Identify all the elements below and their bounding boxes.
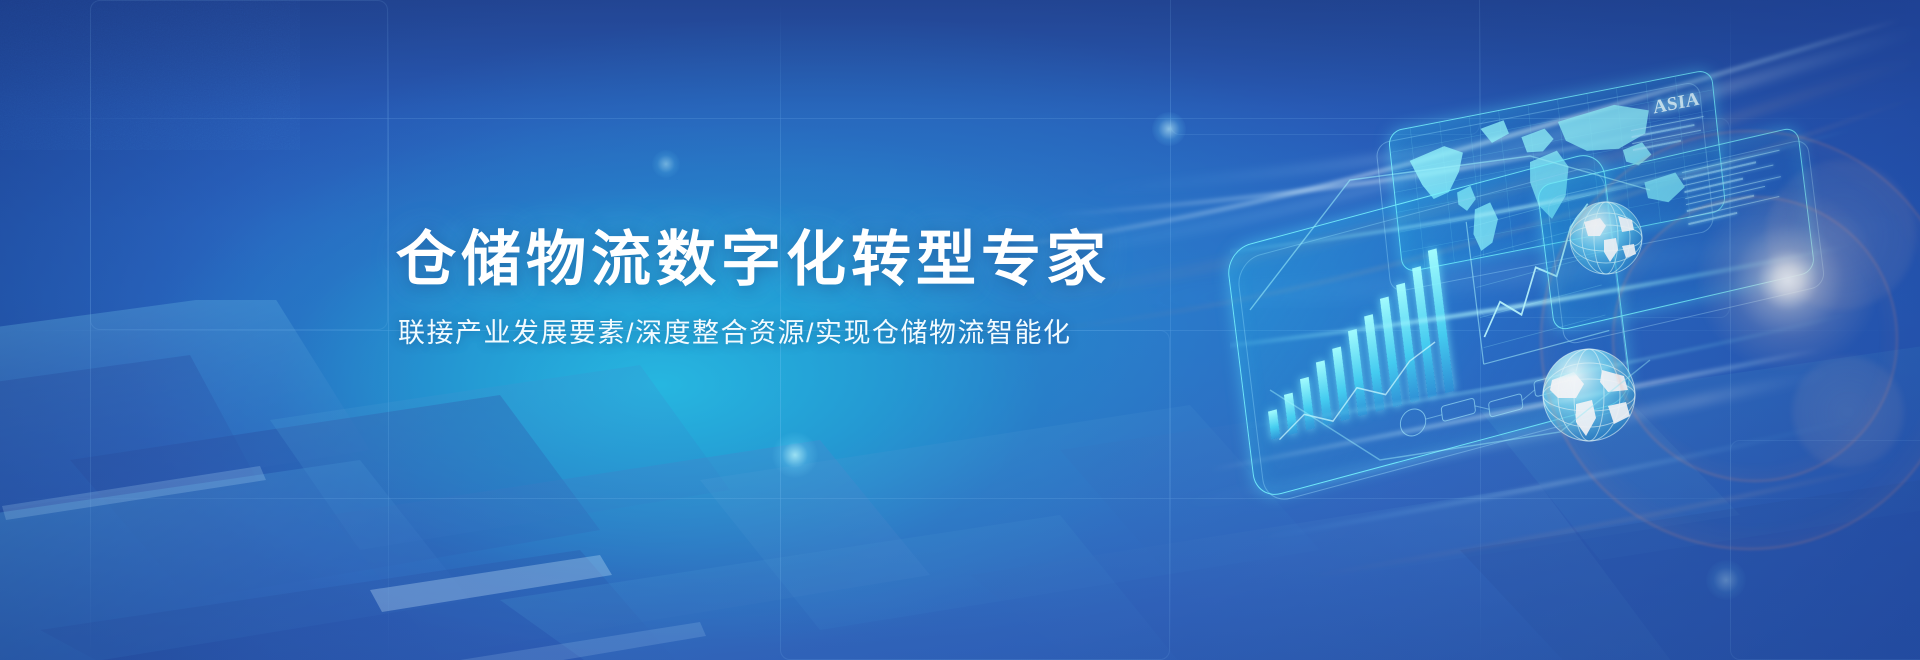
banner-copy: 仓储物流数字化转型专家 联接产业发展要素/深度整合资源/实现仓储物流智能化 bbox=[396, 228, 1096, 351]
banner-subheadline: 联接产业发展要素/深度整合资源/实现仓储物流智能化 bbox=[398, 317, 1096, 351]
lens-flare-core bbox=[1688, 180, 1888, 380]
trend-line-left bbox=[1273, 342, 1442, 440]
banner-headline: 仓储物流数字化转型专家 bbox=[396, 228, 1096, 293]
hero-banner: ASIA bbox=[0, 0, 1920, 660]
